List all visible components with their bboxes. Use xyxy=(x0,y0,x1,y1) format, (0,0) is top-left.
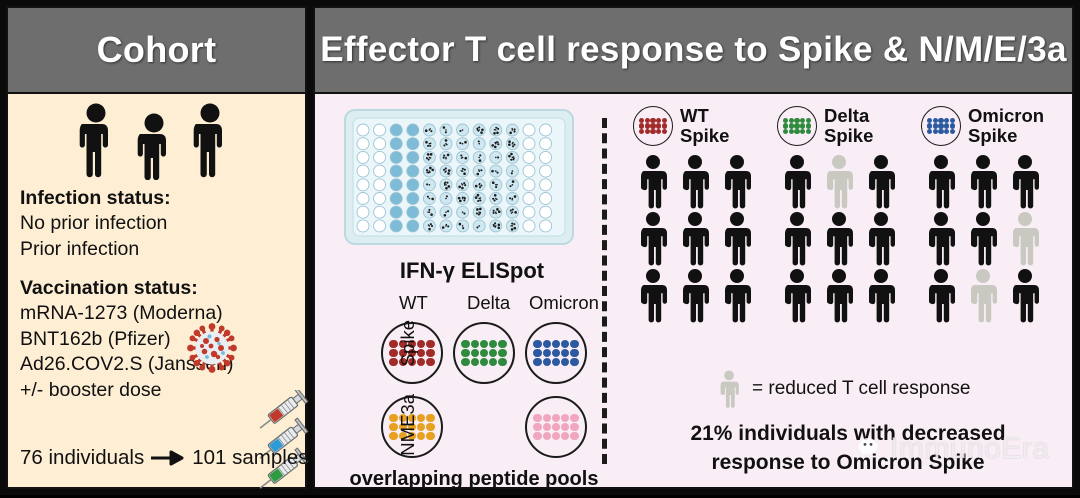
peptide-bead xyxy=(570,349,579,358)
peptide-bead xyxy=(480,358,489,367)
variant-response-block: WTSpikeDeltaSpikeOmicronSpike xyxy=(633,106,1063,325)
variant-bead xyxy=(933,123,938,128)
pool-spike-delta xyxy=(453,322,515,384)
legend: = reduced T cell response xyxy=(715,369,970,409)
peptide-bead xyxy=(543,414,552,423)
peptide-bead xyxy=(570,432,579,441)
variant-bead xyxy=(944,118,949,123)
variant-label-delta: DeltaSpike xyxy=(824,106,873,146)
peptide-beads xyxy=(533,340,578,367)
pool-header-omicron: Omicron xyxy=(529,292,599,314)
variant-bead xyxy=(789,129,794,134)
pool-header-wt: WT xyxy=(399,292,428,314)
person-icon-responder xyxy=(1005,268,1045,323)
variant-bead xyxy=(783,118,788,123)
variant-header-delta: DeltaSpike xyxy=(777,106,905,146)
peptide-bead xyxy=(543,432,552,441)
variant-bead xyxy=(794,123,799,128)
peptide-bead xyxy=(552,423,561,432)
pool-row-label-spike: Spike xyxy=(397,320,419,366)
people-grid-delta xyxy=(777,154,905,325)
peptide-bead xyxy=(561,423,570,432)
peptide-beads xyxy=(461,340,506,367)
people-row xyxy=(633,268,761,325)
person-icon-responder xyxy=(717,154,757,209)
variant-bead xyxy=(783,123,788,128)
variant-bead xyxy=(950,129,955,134)
variant-bead xyxy=(927,123,932,128)
page-title: Cohort xyxy=(97,29,217,71)
variant-bead xyxy=(639,129,644,134)
people-row xyxy=(777,211,905,268)
peptide-bead xyxy=(426,340,435,349)
variant-bead xyxy=(944,129,949,134)
panel-title: Effector T cell response to Spike & N/M/… xyxy=(320,30,1066,70)
person-icon-reduced xyxy=(963,268,1003,323)
peptide-bead xyxy=(533,358,542,367)
peptide-bead xyxy=(543,349,552,358)
conclusion-line-2: response to Omicron Spike xyxy=(633,448,1063,477)
variant-label-line1: WT xyxy=(680,106,729,126)
peptide-pools-block: WT Delta Omicron Spike NME3a overlapping… xyxy=(333,292,605,491)
variant-bead xyxy=(806,129,811,134)
variant-bead xyxy=(933,129,938,134)
peptide-bead xyxy=(552,414,561,423)
variant-pool-circle-wt xyxy=(633,106,673,146)
peptide-bead xyxy=(471,349,480,358)
person-icon-responder xyxy=(777,268,817,323)
variant-bead xyxy=(662,129,667,134)
cohort-summary: 76 individuals 101 samples xyxy=(20,446,310,470)
person-icon-responder xyxy=(921,154,961,209)
person-icon-responder xyxy=(633,154,673,209)
peptide-bead xyxy=(498,358,507,367)
cohort-details: Infection status: No prior infection Pri… xyxy=(20,186,300,403)
elispot-block: IFN-γ ELISpot xyxy=(343,102,601,284)
variant-pool-circle-delta xyxy=(777,106,817,146)
peptide-bead xyxy=(461,358,470,367)
variant-bead xyxy=(645,118,650,123)
variant-bead xyxy=(938,118,943,123)
cohort-panel-body: Infection status: No prior infection Pri… xyxy=(8,94,305,487)
variant-bead xyxy=(789,118,794,123)
peptide-bead xyxy=(561,432,570,441)
person-icon-responder xyxy=(633,211,673,266)
conclusion-text: 21% individuals with decreased response … xyxy=(633,419,1063,477)
variant-bead xyxy=(794,129,799,134)
elispot-label: IFN-γ ELISpot xyxy=(343,258,601,284)
peptide-bead xyxy=(561,340,570,349)
person-icon-responder xyxy=(717,211,757,266)
vaccine-moderna: mRNA-1273 (Moderna) xyxy=(20,301,300,327)
pool-spike-omicron xyxy=(525,322,587,384)
people-row xyxy=(633,211,761,268)
person-icon-responder xyxy=(675,154,715,209)
variant-beads xyxy=(927,118,956,135)
peptide-bead xyxy=(570,340,579,349)
people-grid-omicron xyxy=(921,154,1049,325)
vaccine-janssen: Ad26.COV2.S (Janssen) xyxy=(20,352,300,378)
person-icon-reduced xyxy=(1005,211,1045,266)
variant-bead xyxy=(950,118,955,123)
people-row xyxy=(921,154,1049,211)
peptide-bead xyxy=(426,432,435,441)
variant-bead xyxy=(800,118,805,123)
peptide-bead xyxy=(552,349,561,358)
variant-bead xyxy=(783,129,788,134)
variant-bead xyxy=(927,129,932,134)
variant-bead xyxy=(927,118,932,123)
person-icon-responder xyxy=(819,268,859,323)
peptide-bead xyxy=(552,432,561,441)
variant-bead xyxy=(650,123,655,128)
section-divider xyxy=(602,118,607,464)
peptide-bead xyxy=(533,340,542,349)
variant-bead xyxy=(950,123,955,128)
peptide-bead xyxy=(533,432,542,441)
peptide-bead xyxy=(543,423,552,432)
variant-bead xyxy=(662,118,667,123)
variant-bead xyxy=(789,123,794,128)
cohort-panel-header: Cohort xyxy=(8,8,305,94)
peptide-bead xyxy=(498,340,507,349)
person-icon-responder xyxy=(777,211,817,266)
person-icon-responder xyxy=(717,268,757,323)
variant-bead xyxy=(662,123,667,128)
person-icon-responder xyxy=(921,211,961,266)
person-icon-responder xyxy=(819,211,859,266)
peptide-bead xyxy=(552,358,561,367)
person-icon-responder xyxy=(963,211,1003,266)
peptide-bead xyxy=(498,349,507,358)
peptide-bead xyxy=(461,349,470,358)
peptide-bead xyxy=(489,349,498,358)
variant-beads xyxy=(639,118,668,135)
person-icon-responder xyxy=(675,268,715,323)
variant-bead xyxy=(794,118,799,123)
people-row xyxy=(921,268,1049,325)
person-icon-reduced xyxy=(819,154,859,209)
variant-label-wt: WTSpike xyxy=(680,106,729,146)
variant-bead xyxy=(944,123,949,128)
variant-bead xyxy=(656,123,661,128)
variant-bead xyxy=(800,123,805,128)
peptide-bead xyxy=(543,340,552,349)
people-row xyxy=(777,268,905,325)
peptide-bead xyxy=(471,358,480,367)
peptide-bead xyxy=(570,423,579,432)
person-icon-responder xyxy=(963,154,1003,209)
peptide-bead xyxy=(480,340,489,349)
effector-response-panel: Effector T cell response to Spike & N/M/… xyxy=(313,6,1074,489)
vaccine-pfizer: BNT162b (Pfizer) xyxy=(20,327,300,353)
peptide-bead xyxy=(570,358,579,367)
peptide-bead xyxy=(533,349,542,358)
peptide-bead xyxy=(561,358,570,367)
peptide-bead xyxy=(489,358,498,367)
variant-label-line1: Delta xyxy=(824,106,873,126)
conclusion-line-1: 21% individuals with decreased xyxy=(633,419,1063,448)
peptide-pool-col-headers: WT Delta Omicron xyxy=(381,292,605,316)
variant-bead xyxy=(650,118,655,123)
arrow-right-icon xyxy=(151,450,185,466)
infographic-figure: Cohort Infection status: No pri xyxy=(0,0,1080,495)
pool-nme3a-omicron xyxy=(525,396,587,458)
person-icon-responder xyxy=(921,268,961,323)
person-icon-responder xyxy=(861,154,901,209)
legend-text: = reduced T cell response xyxy=(752,378,970,400)
infection-status-heading: Infection status: xyxy=(20,186,300,211)
peptide-bead xyxy=(426,414,435,423)
peptide-bead xyxy=(533,423,542,432)
infection-option-prior: Prior infection xyxy=(20,237,300,263)
variant-bead xyxy=(656,129,661,134)
variant-bead xyxy=(938,123,943,128)
person-icon-responder xyxy=(675,211,715,266)
variant-bead xyxy=(656,118,661,123)
variant-header-omicron: OmicronSpike xyxy=(921,106,1049,146)
variant-bead xyxy=(645,129,650,134)
vaccination-status-heading: Vaccination status: xyxy=(20,276,300,301)
variant-headers: WTSpikeDeltaSpikeOmicronSpike xyxy=(633,106,1063,146)
peptide-bead xyxy=(426,358,435,367)
three-syringes-icon xyxy=(248,390,316,498)
three-people-icon xyxy=(68,102,248,180)
effector-panel-body: IFN-γ ELISpot WT Delta Omicron Spike NME… xyxy=(315,94,1072,487)
pool-row-label-nme3a: NME3a xyxy=(397,394,419,456)
pool-nme3a-delta-empty xyxy=(453,396,515,458)
samples-count: 101 samples xyxy=(192,446,308,470)
variant-bead xyxy=(650,129,655,134)
variant-bead xyxy=(639,118,644,123)
variant-beads xyxy=(783,118,812,135)
cohort-panel: Cohort Infection status: No pri xyxy=(6,6,307,489)
peptide-bead xyxy=(570,414,579,423)
effector-panel-header: Effector T cell response to Spike & N/M/… xyxy=(315,8,1072,94)
variant-label-line1: Omicron xyxy=(968,106,1044,126)
variant-header-wt: WTSpike xyxy=(633,106,761,146)
peptide-bead xyxy=(552,340,561,349)
variant-bead xyxy=(806,123,811,128)
peptide-pools-grid: Spike NME3a xyxy=(381,316,605,464)
individuals-count: 76 individuals xyxy=(20,446,144,470)
person-icon-responder xyxy=(777,154,817,209)
variant-label-line2: Spike xyxy=(968,126,1044,146)
peptide-pools-caption: overlapping peptide pools xyxy=(343,468,605,491)
peptide-bead xyxy=(461,340,470,349)
variant-bead xyxy=(938,129,943,134)
peptide-bead xyxy=(543,358,552,367)
peptide-bead xyxy=(561,414,570,423)
variant-bead xyxy=(806,118,811,123)
person-icon-responder xyxy=(633,268,673,323)
gray-person-icon xyxy=(715,369,743,409)
variant-bead xyxy=(645,123,650,128)
variant-people-grids xyxy=(633,154,1063,325)
peptide-bead xyxy=(471,340,480,349)
variant-bead xyxy=(800,129,805,134)
peptide-bead xyxy=(426,349,435,358)
96-well-plate-icon xyxy=(343,108,575,246)
variant-label-line2: Spike xyxy=(824,126,873,146)
person-icon-responder xyxy=(861,268,901,323)
peptide-bead xyxy=(489,340,498,349)
peptide-bead xyxy=(426,423,435,432)
peptide-bead xyxy=(561,349,570,358)
peptide-bead xyxy=(533,414,542,423)
people-row xyxy=(921,211,1049,268)
variant-pool-circle-omicron xyxy=(921,106,961,146)
person-icon-responder xyxy=(1005,154,1045,209)
people-row xyxy=(633,154,761,211)
peptide-beads xyxy=(533,414,578,441)
pool-header-delta: Delta xyxy=(467,292,510,314)
variant-label-line2: Spike xyxy=(680,126,729,146)
peptide-bead xyxy=(480,349,489,358)
variant-bead xyxy=(933,118,938,123)
coronavirus-particle-icon xyxy=(186,322,238,374)
variant-label-omicron: OmicronSpike xyxy=(968,106,1044,146)
person-icon-responder xyxy=(861,211,901,266)
infection-option-no-prior: No prior infection xyxy=(20,211,300,237)
people-row xyxy=(777,154,905,211)
people-grid-wt xyxy=(633,154,761,325)
variant-bead xyxy=(639,123,644,128)
